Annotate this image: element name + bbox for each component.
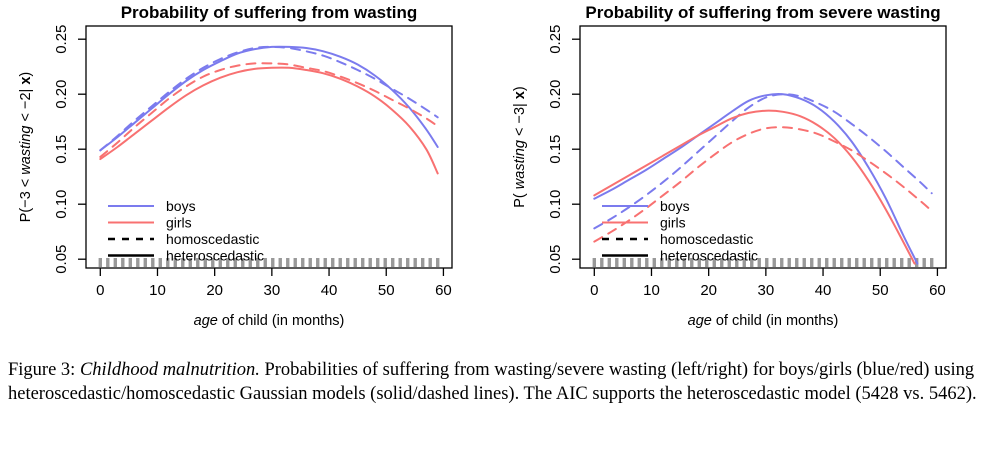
chart-severe-wasting: Probability of suffering from severe was… [494,0,987,352]
y-tick-label: 0.20 [547,80,564,109]
x-tick-label: 0 [590,282,598,299]
legend-label-heteroscedastic: heteroscedastic [166,248,264,264]
x-axis-title-italic: age [194,313,218,329]
x-tick-label: 30 [758,282,775,299]
legend-label-boys: boys [166,198,196,214]
x-tick-label: 0 [96,282,104,299]
y-axis-title-italic: wasting [512,140,528,189]
figure-3-container: Probability of suffering from wasting0.0… [0,0,987,452]
legend-label-boys: boys [660,198,690,214]
legend-label-heteroscedastic: heteroscedastic [660,248,758,264]
panel-title: Probability of suffering from severe was… [585,3,940,22]
y-axis-title-suffix: ) [18,72,34,77]
curves-group [100,47,437,174]
y-tick-label: 0.05 [547,245,564,274]
figure-caption: Figure 3: Childhood malnutrition. Probab… [8,358,980,406]
y-tick-label: 0.25 [547,25,564,54]
plot-panels: Probability of suffering from wasting0.0… [0,0,987,352]
y-axis-title-bold-x: x [18,77,34,85]
curve-boys-homoscedastic [594,94,931,228]
legend: boysgirlshomoscedasticheteroscedastic [108,198,264,264]
panel-severe-wasting: Probability of suffering from severe was… [494,0,987,352]
y-tick-label: 0.25 [53,25,70,54]
y-tick-label: 0.15 [547,135,564,164]
x-axis-title-rest: of child (in months) [218,313,345,329]
x-tick-label: 50 [378,282,395,299]
plot-frame [86,26,452,268]
y-axis-title-middle: < −3| [512,99,528,140]
caption-line1-rest: Probabilities of suffering from wasting/… [264,360,748,380]
x-tick-label: 10 [643,282,660,299]
y-axis-title-bold-x: x [512,91,528,99]
legend-label-homoscedastic: homoscedastic [166,231,259,247]
y-axis-title-middle: < −2| [18,85,34,126]
x-axis-title-italic: age [688,313,712,329]
x-axis-title-rest: of child (in months) [712,313,839,329]
legend-label-girls: girls [660,215,686,231]
x-tick-label: 20 [700,282,717,299]
y-axis-title-italic: wasting [18,126,34,175]
panel-wasting: Probability of suffering from wasting0.0… [0,0,493,352]
rug-marks [594,258,931,267]
y-axis-title-prefix: P( [512,189,528,208]
x-axis-title: age of child (in months) [194,313,345,329]
curve-boys-heteroscedastic [594,94,917,264]
y-tick-label: 0.10 [547,190,564,219]
x-tick-label: 30 [264,282,281,299]
y-tick-label: 0.20 [53,80,70,109]
y-axis-title: P( wasting < −3| x) [512,86,528,207]
legend-label-girls: girls [166,215,192,231]
legend-label-homoscedastic: homoscedastic [660,231,753,247]
curve-girls-homoscedastic [594,127,931,241]
x-tick-label: 20 [206,282,223,299]
rug-marks [100,258,437,267]
y-tick-label: 0.15 [53,135,70,164]
x-tick-label: 10 [149,282,166,299]
x-tick-label: 50 [872,282,889,299]
caption-title: Childhood malnutrition. [80,360,260,380]
y-axis-title: P(−3 < wasting < −2| x) [18,72,34,223]
x-tick-label: 40 [815,282,832,299]
y-tick-label: 0.05 [53,245,70,274]
panel-title: Probability of suffering from wasting [121,3,418,22]
curve-girls-heteroscedastic [594,111,914,264]
y-axis-title-suffix: ) [512,86,528,91]
x-tick-label: 60 [435,282,452,299]
x-tick-label: 40 [321,282,338,299]
chart-wasting: Probability of suffering from wasting0.0… [0,0,493,352]
legend: boysgirlshomoscedasticheteroscedastic [602,198,758,264]
curve-boys-heteroscedastic [100,47,437,151]
y-axis-title-prefix: P(−3 < [18,175,34,223]
caption-label: Figure 3: [8,360,75,380]
x-tick-label: 60 [929,282,946,299]
x-axis-title: age of child (in months) [688,313,839,329]
curve-girls-heteroscedastic [100,68,437,174]
plot-frame [580,26,946,268]
caption-line3: The AIC supports the heteroscedastic mod… [524,384,977,404]
y-tick-label: 0.10 [53,190,70,219]
